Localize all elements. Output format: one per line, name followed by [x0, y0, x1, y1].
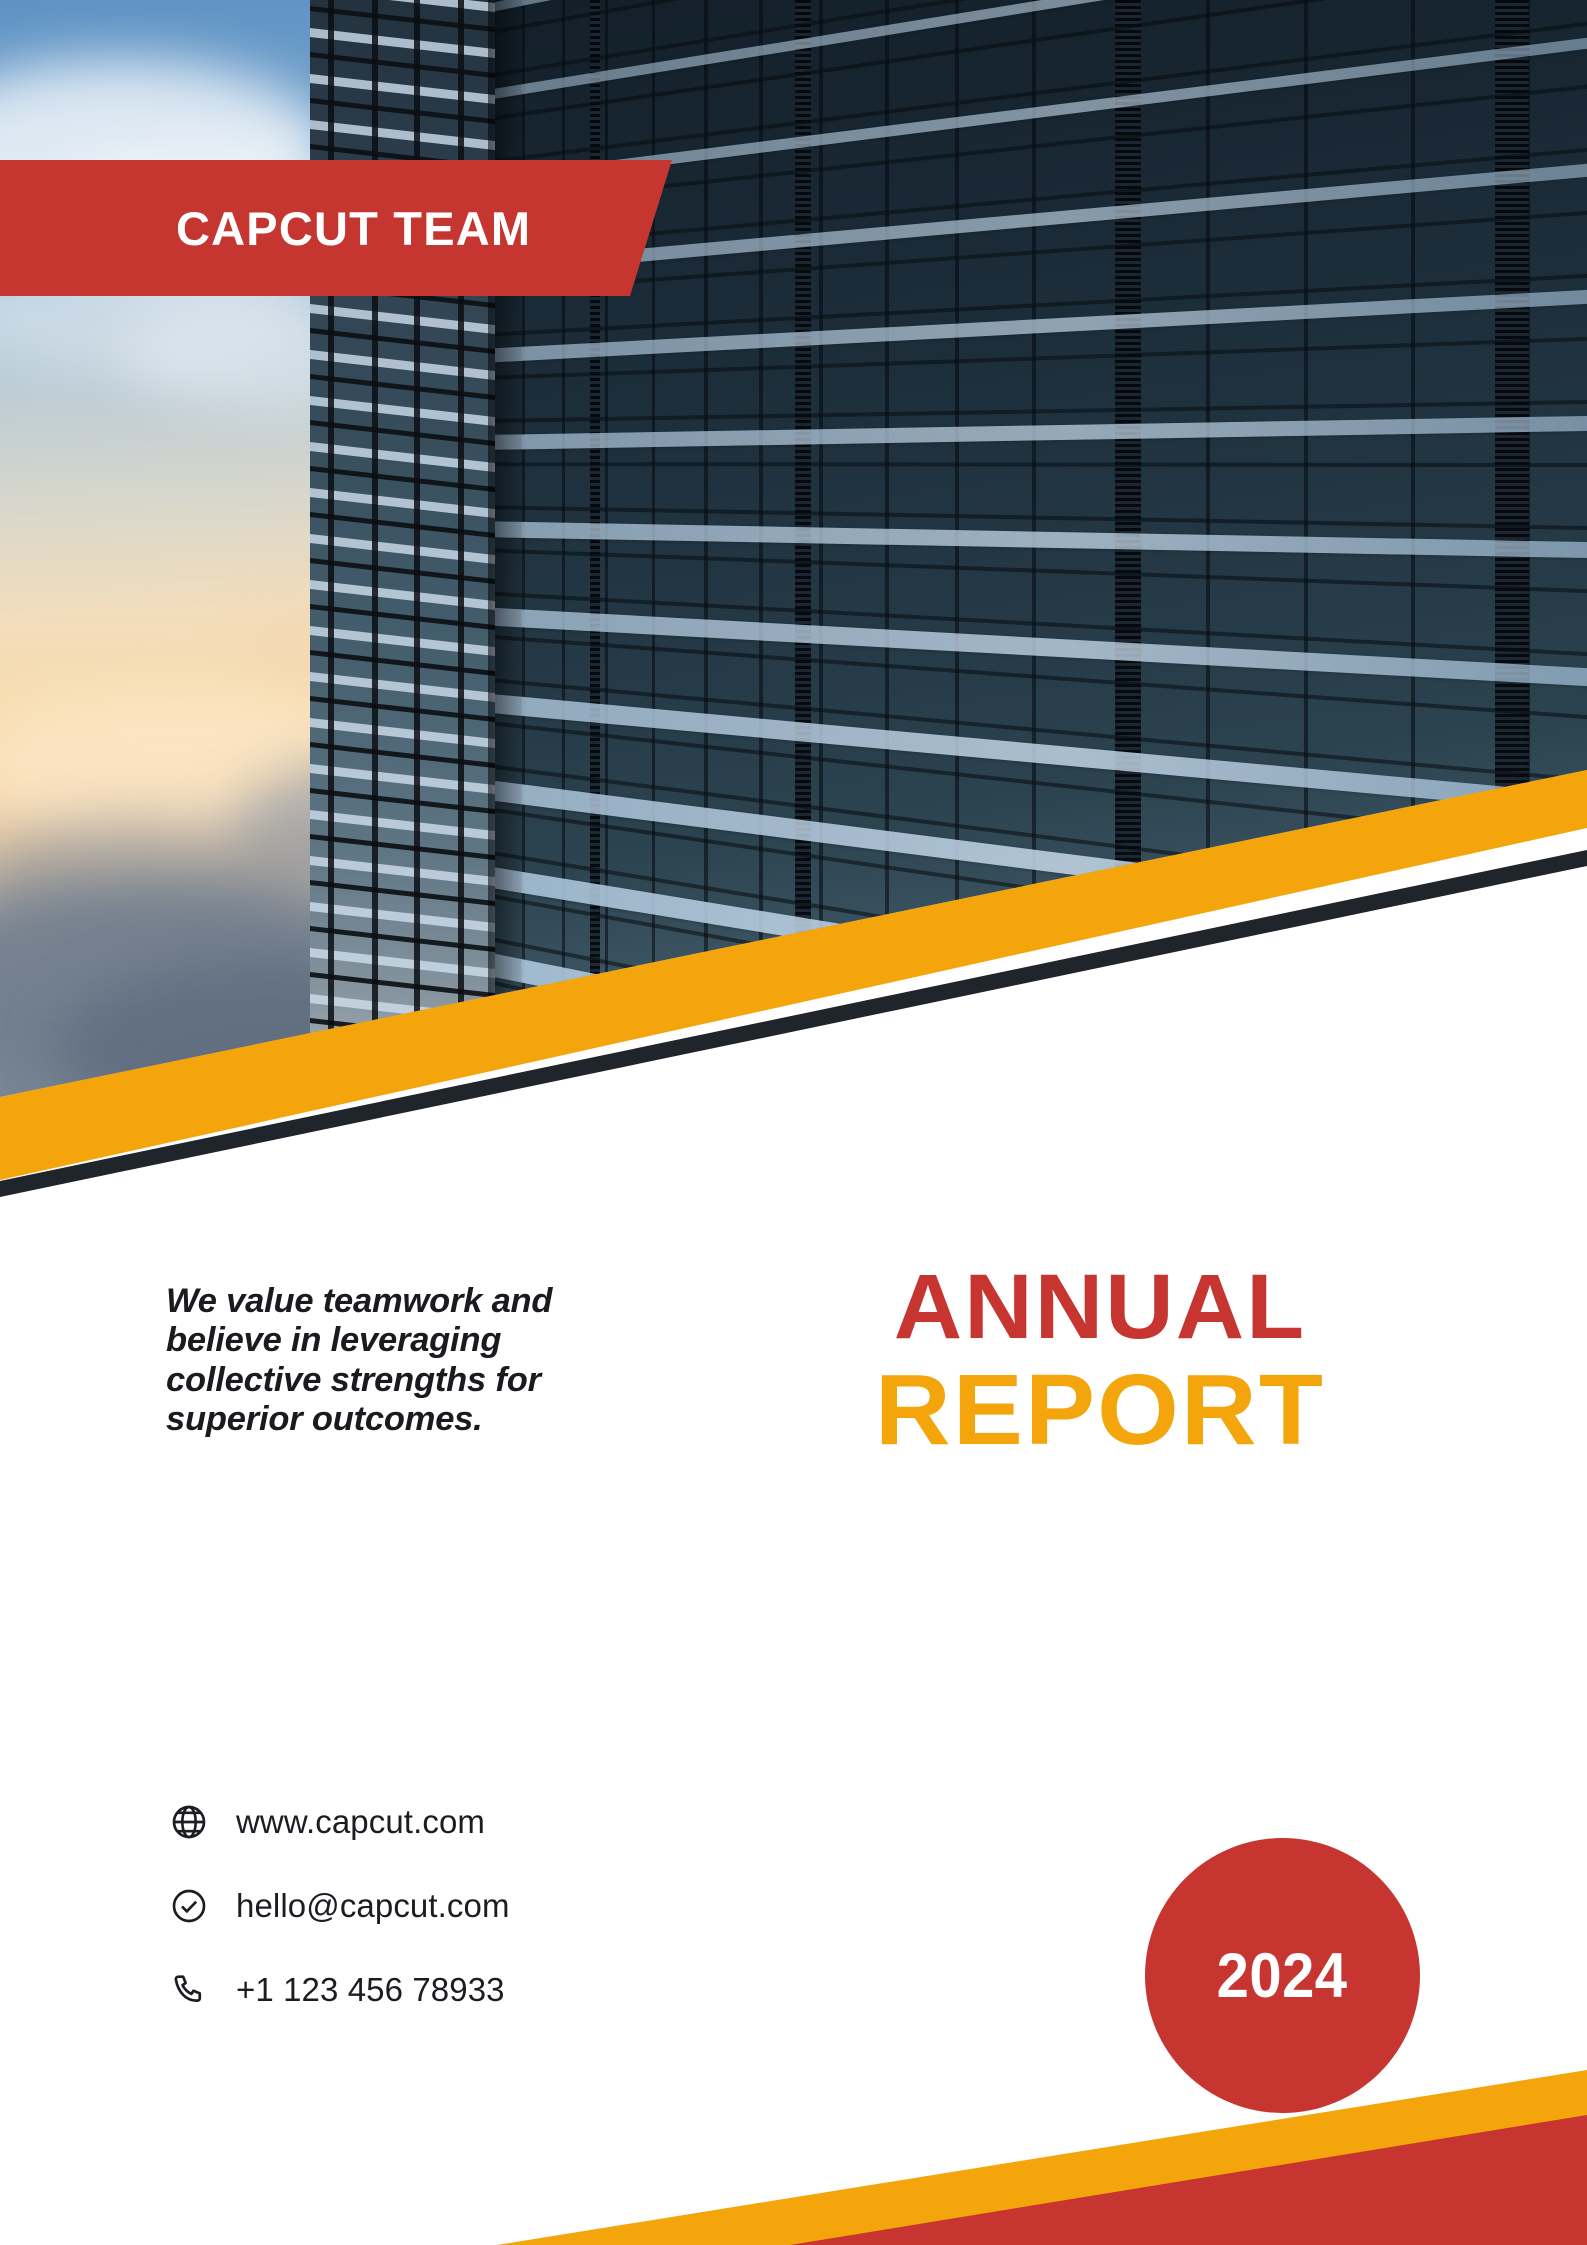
report-title: ANNUAL REPORT — [780, 1262, 1420, 1460]
title-line-annual: ANNUAL — [770, 1262, 1429, 1352]
contact-row-phone[interactable]: +1 123 456 78933 — [168, 1948, 510, 2032]
check-circle-icon — [168, 1885, 210, 1927]
annual-report-cover: CAPCUT TEAM We value teamwork and believ… — [0, 0, 1587, 2245]
contact-row-website[interactable]: www.capcut.com — [168, 1780, 510, 1864]
contact-row-email[interactable]: hello@capcut.com — [168, 1864, 510, 1948]
year-badge-label: 2024 — [1217, 1940, 1348, 2012]
phone-value: +1 123 456 78933 — [236, 1971, 505, 2009]
team-name-ribbon: CAPCUT TEAM — [0, 160, 680, 296]
contact-list: www.capcut.com hello@capcut.com +1 123 4… — [168, 1780, 510, 2032]
ribbon-label: CAPCUT TEAM — [176, 201, 531, 256]
phone-icon — [168, 1969, 210, 2011]
email-value: hello@capcut.com — [236, 1887, 510, 1925]
globe-icon — [168, 1801, 210, 1843]
title-line-report: REPORT — [764, 1360, 1436, 1460]
website-value: www.capcut.com — [236, 1803, 485, 1841]
year-badge: 2024 — [1145, 1838, 1420, 2113]
tagline-text: We value teamwork and believe in leverag… — [166, 1282, 646, 1439]
